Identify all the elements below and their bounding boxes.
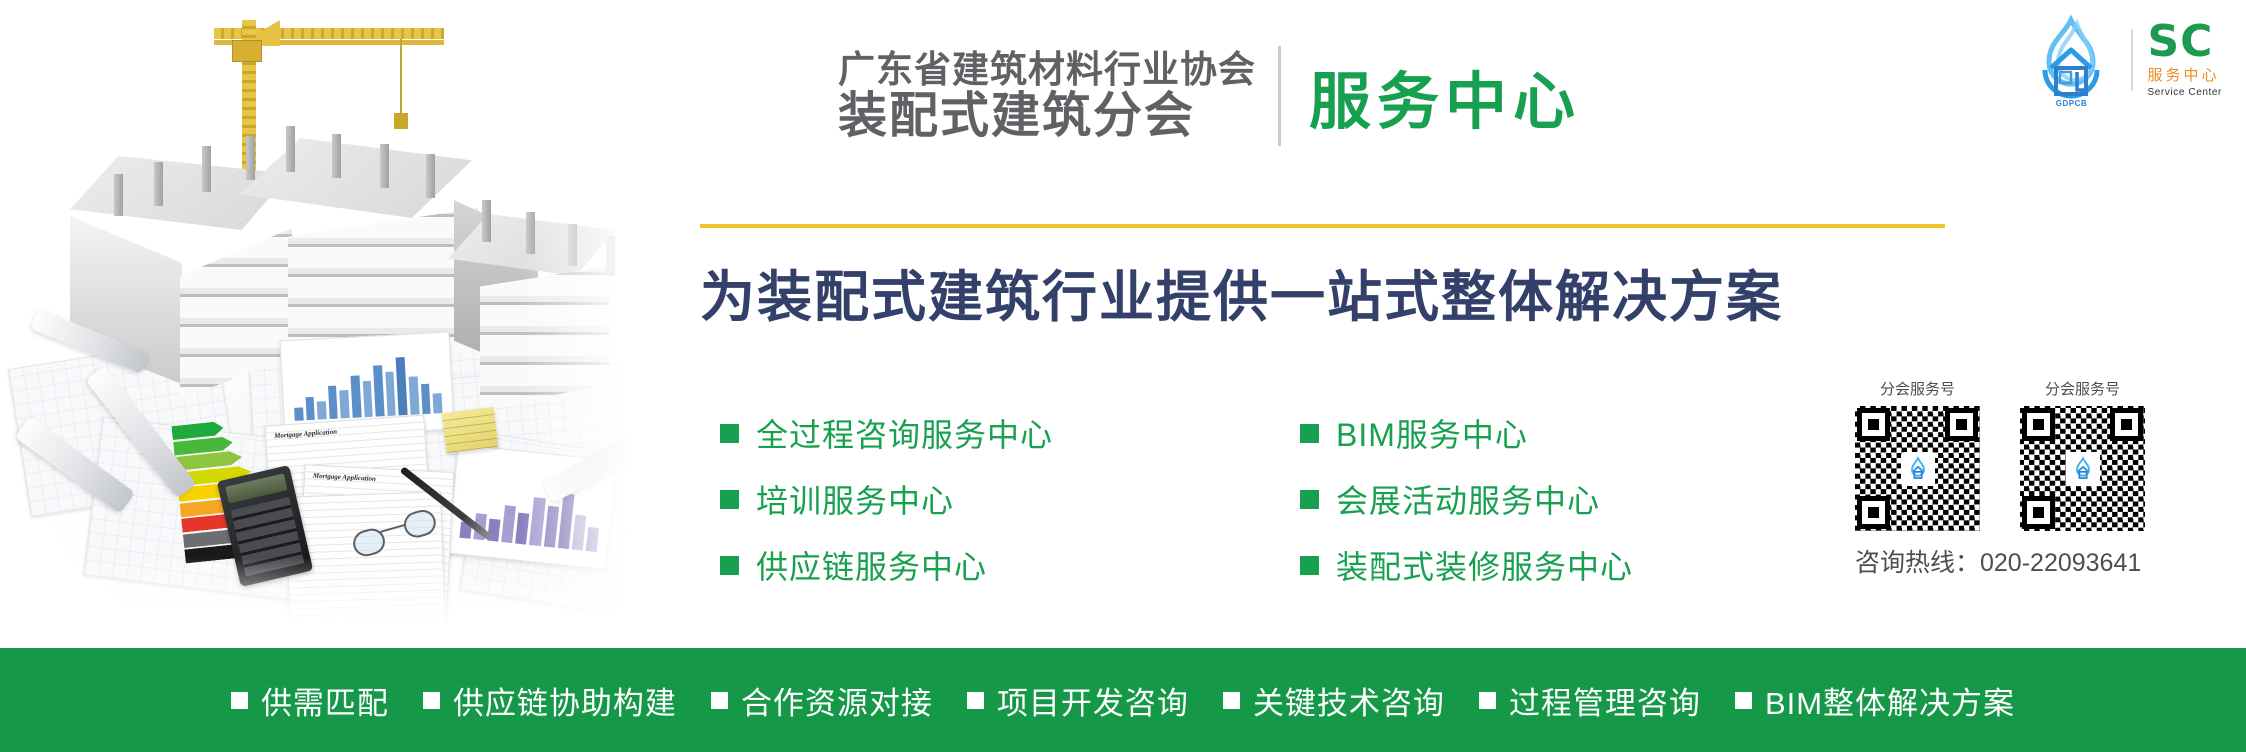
service-label: 装配式装修服务中心 xyxy=(1336,542,1633,588)
main-headline: 为装配式建筑行业提供一站式整体解决方案 xyxy=(700,252,1783,332)
service-item[interactable]: 装配式装修服务中心 xyxy=(1300,532,1633,598)
photo-fade-bottom xyxy=(0,558,660,648)
square-bullet-icon xyxy=(711,692,728,709)
form-heading: Mortgage Application xyxy=(313,472,376,483)
bottom-tag[interactable]: BIM整体解决方案 xyxy=(1735,678,2015,723)
qr-contact-block: 分会服务号 分会服务号 xyxy=(1855,378,2215,579)
square-bullet-icon xyxy=(1223,692,1240,709)
service-label: 会展活动服务中心 xyxy=(1336,476,1600,522)
service-label: 全过程咨询服务中心 xyxy=(756,410,1053,456)
promo-banner: Mortgage Application Mortgage Applicatio… xyxy=(0,0,2246,752)
qr-caption: 分会服务号 xyxy=(1855,378,1980,399)
logo-group: GDPCB SC 服务中心 Service Center xyxy=(2025,14,2222,106)
service-item[interactable]: 培训服务中心 xyxy=(720,466,1053,532)
qr-center-logo-icon xyxy=(1901,452,1935,486)
square-bullet-icon xyxy=(967,692,984,709)
association-line-2: 装配式建筑分会 xyxy=(838,90,1256,143)
bottom-tag[interactable]: 供需匹配 xyxy=(231,678,389,723)
title-block: 广东省建筑材料行业协会 装配式建筑分会 服务中心 xyxy=(838,46,1581,146)
square-bullet-icon xyxy=(720,490,739,509)
square-bullet-icon xyxy=(231,692,248,709)
service-center-title: 服务中心 xyxy=(1309,51,1581,141)
sticky-note xyxy=(442,407,498,453)
bottom-tag-label: 项目开发咨询 xyxy=(997,678,1189,723)
bottom-tag[interactable]: 项目开发咨询 xyxy=(967,678,1189,723)
bottom-tag[interactable]: 过程管理咨询 xyxy=(1479,678,1701,723)
square-bullet-icon xyxy=(423,692,440,709)
square-bullet-icon xyxy=(720,424,739,443)
bottom-tag-label: BIM整体解决方案 xyxy=(1765,678,2015,723)
service-item[interactable]: 全过程咨询服务中心 xyxy=(720,400,1053,466)
gdpcb-house-flame-icon: GDPCB xyxy=(2025,14,2117,106)
bottom-tag[interactable]: 关键技术咨询 xyxy=(1223,678,1445,723)
square-bullet-icon xyxy=(1735,692,1752,709)
construction-photo: Mortgage Application Mortgage Applicatio… xyxy=(0,0,660,648)
title-divider xyxy=(1278,46,1281,146)
crane-cab xyxy=(232,40,262,62)
bottom-tag-label: 过程管理咨询 xyxy=(1509,678,1701,723)
form-heading: Mortgage Application xyxy=(274,428,337,440)
qr-caption: 分会服务号 xyxy=(2020,378,2145,399)
photo-fade-right xyxy=(520,0,660,648)
service-label: 供应链服务中心 xyxy=(756,542,987,588)
qr-item: 分会服务号 xyxy=(2020,378,2145,531)
gdpcb-label: GDPCB xyxy=(2025,99,2117,108)
square-bullet-icon xyxy=(720,556,739,575)
qr-code-icon[interactable] xyxy=(1855,406,1980,531)
square-bullet-icon xyxy=(1479,692,1496,709)
sc-logotype: SC xyxy=(2147,22,2213,62)
association-name: 广东省建筑材料行业协会 装配式建筑分会 xyxy=(838,49,1256,143)
bottom-tag-label: 供应链协助构建 xyxy=(453,678,677,723)
square-bullet-icon xyxy=(1300,490,1319,509)
service-item[interactable]: 会展活动服务中心 xyxy=(1300,466,1633,532)
bottom-tag-label: 供需匹配 xyxy=(261,678,389,723)
service-label: BIM服务中心 xyxy=(1336,410,1528,456)
bottom-tag-label: 合作资源对接 xyxy=(741,678,933,723)
bottom-tag[interactable]: 供应链协助构建 xyxy=(423,678,677,723)
sc-logo-english: Service Center xyxy=(2147,87,2222,98)
square-bullet-icon xyxy=(1300,424,1319,443)
logo-divider xyxy=(2131,29,2133,91)
yellow-divider-rule xyxy=(700,224,1945,228)
hotline-text: 咨询热线：020-22093641 xyxy=(1855,543,2215,579)
service-list-right: BIM服务中心 会展活动服务中心 装配式装修服务中心 xyxy=(1300,400,1633,598)
sc-logo-chinese: 服务中心 xyxy=(2147,64,2219,85)
qr-item: 分会服务号 xyxy=(1855,378,1980,531)
service-list-left: 全过程咨询服务中心 培训服务中心 供应链服务中心 xyxy=(720,400,1053,598)
qr-code-icon[interactable] xyxy=(2020,406,2145,531)
bottom-tag-bar: 供需匹配 供应链协助构建 合作资源对接 项目开发咨询 关键技术咨询 过程管理咨询… xyxy=(0,648,2246,752)
bottom-tag[interactable]: 合作资源对接 xyxy=(711,678,933,723)
chart-bars xyxy=(292,353,443,421)
bottom-tag-label: 关键技术咨询 xyxy=(1253,678,1445,723)
service-item[interactable]: BIM服务中心 xyxy=(1300,400,1633,466)
service-item[interactable]: 供应链服务中心 xyxy=(720,532,1053,598)
association-line-1: 广东省建筑材料行业协会 xyxy=(838,49,1256,90)
qr-center-logo-icon xyxy=(2066,452,2100,486)
square-bullet-icon xyxy=(1300,556,1319,575)
service-label: 培训服务中心 xyxy=(756,476,954,522)
